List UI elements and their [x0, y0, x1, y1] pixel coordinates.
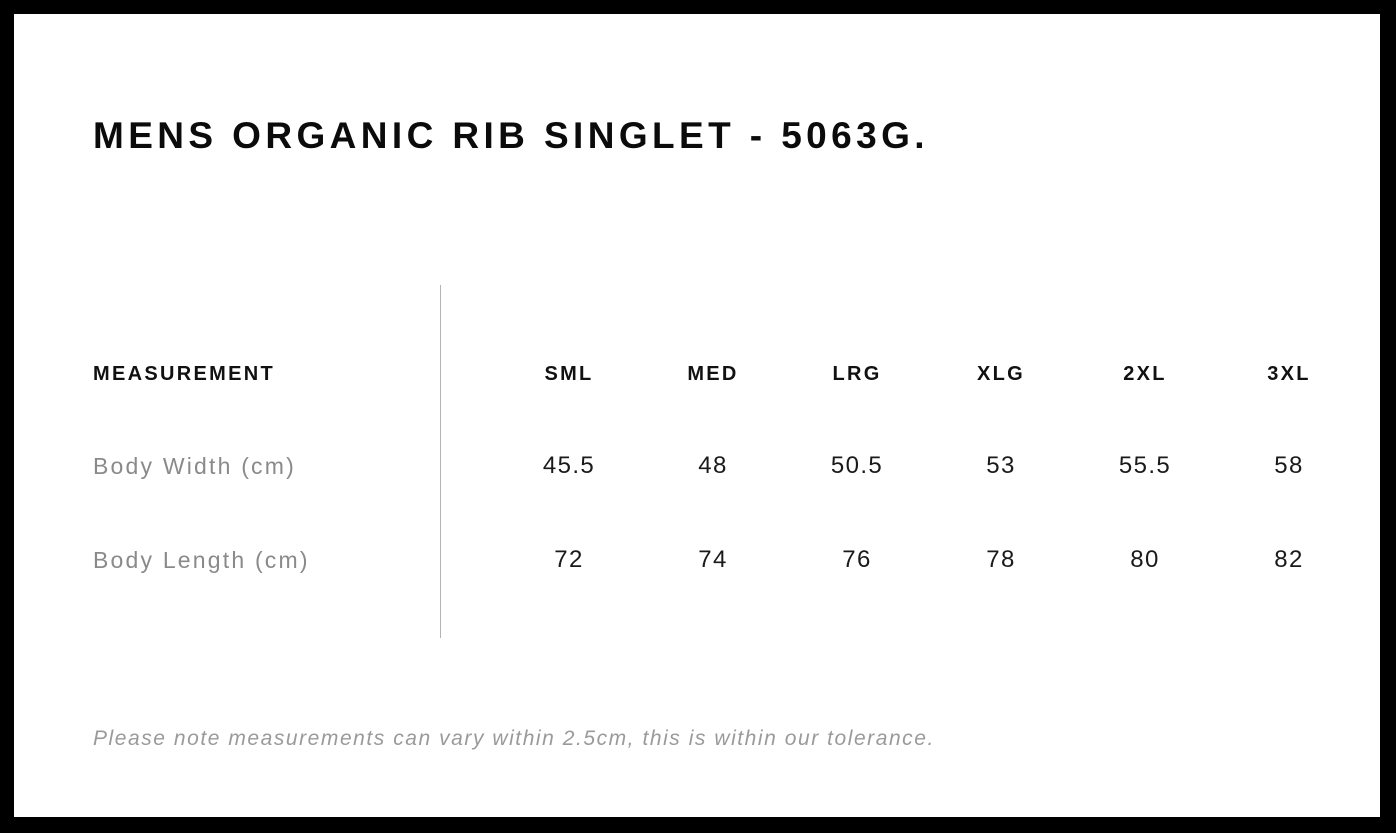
cell-body-length-med: 74: [648, 540, 778, 580]
table-header-row: MEASUREMENT SML MED LRG XLG 2XL 3XL: [14, 354, 1380, 394]
column-header-3xl: 3XL: [1224, 354, 1354, 394]
row-label-body-width: Body Width (cm): [93, 446, 296, 486]
column-header-lrg: LRG: [792, 354, 922, 394]
table-row: Body Length (cm) 72 74 76 78 80 82: [14, 540, 1380, 580]
column-header-med: MED: [648, 354, 778, 394]
cell-body-width-med: 48: [648, 446, 778, 486]
cell-body-width-sml: 45.5: [504, 446, 634, 486]
cell-body-width-2xl: 55.5: [1080, 446, 1210, 486]
row-label-body-length: Body Length (cm): [93, 540, 310, 580]
cell-body-length-sml: 72: [504, 540, 634, 580]
cell-body-length-xlg: 78: [936, 540, 1066, 580]
cell-body-length-2xl: 80: [1080, 540, 1210, 580]
cell-body-width-3xl: 58: [1224, 446, 1354, 486]
cell-body-length-3xl: 82: [1224, 540, 1354, 580]
page-title: MENS ORGANIC RIB SINGLET - 5063G.: [93, 117, 929, 154]
column-header-measurement: MEASUREMENT: [93, 354, 275, 394]
cell-body-width-xlg: 53: [936, 446, 1066, 486]
table-row: Body Width (cm) 45.5 48 50.5 53 55.5 58: [14, 446, 1380, 486]
tolerance-footnote: Please note measurements can vary within…: [93, 728, 935, 749]
size-chart-card: MENS ORGANIC RIB SINGLET - 5063G. MEASUR…: [14, 14, 1380, 817]
cell-body-length-lrg: 76: [792, 540, 922, 580]
column-header-2xl: 2XL: [1080, 354, 1210, 394]
column-header-xlg: XLG: [936, 354, 1066, 394]
cell-body-width-lrg: 50.5: [792, 446, 922, 486]
column-header-sml: SML: [504, 354, 634, 394]
